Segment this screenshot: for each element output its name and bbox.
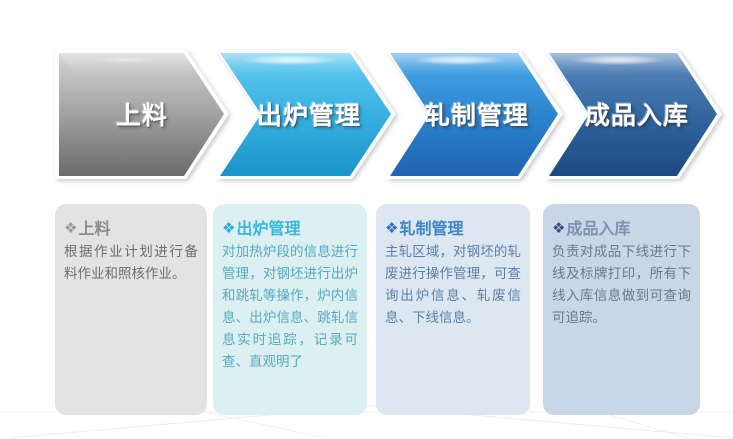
- card-title-1: ❖上料: [64, 218, 198, 239]
- chevron-shapes: [0, 0, 733, 195]
- card-title-3: ❖轧制管理: [385, 218, 521, 239]
- chevron-step-4[interactable]: [545, 50, 722, 179]
- diagram-canvas: 上料 出炉管理 轧制管理 成品入库 ❖上料 根据作业计划进行备料作业和照核作业。…: [0, 0, 733, 439]
- card-body-4: 负责对成品下线进行下线及标牌打印，所有下线入库信息做到可查询可追踪。: [552, 241, 691, 329]
- card-body-2: 对加热炉段的信息进行管理，对钢坯进行出炉和跳轧等操作，炉内信息、出炉信息、跳轧信…: [222, 241, 358, 373]
- card-body-3: 主轧区域，对钢坯的轧废进行操作管理，可查询出炉信息、轧废信息、下线信息。: [385, 241, 521, 329]
- chevron-step-3[interactable]: [386, 50, 563, 179]
- card-title-text-3: 轧制管理: [399, 219, 463, 238]
- description-card-1[interactable]: ❖上料 根据作业计划进行备料作业和照核作业。: [55, 204, 207, 415]
- diamond-bullet-icon: ❖: [64, 219, 77, 237]
- card-title-4: ❖成品入库: [552, 218, 691, 239]
- diamond-bullet-icon: ❖: [385, 219, 398, 237]
- chevron-step-2[interactable]: [216, 50, 396, 179]
- process-chevron-band: 上料 出炉管理 轧制管理 成品入库: [0, 0, 733, 195]
- description-card-3[interactable]: ❖轧制管理 主轧区域，对钢坯的轧废进行操作管理，可查询出炉信息、轧废信息、下线信…: [376, 204, 530, 415]
- card-title-2: ❖出炉管理: [222, 218, 358, 239]
- description-card-4[interactable]: ❖成品入库 负责对成品下线进行下线及标牌打印，所有下线入库信息做到可查询可追踪。: [543, 204, 700, 415]
- chevron-step-1[interactable]: [55, 50, 229, 179]
- diamond-bullet-icon: ❖: [552, 219, 565, 237]
- card-title-text-2: 出炉管理: [236, 219, 300, 238]
- card-body-1: 根据作业计划进行备料作业和照核作业。: [64, 241, 198, 285]
- diamond-bullet-icon: ❖: [222, 219, 235, 237]
- description-card-row: ❖上料 根据作业计划进行备料作业和照核作业。 ❖出炉管理 对加热炉段的信息进行管…: [0, 195, 733, 439]
- card-title-text-1: 上料: [78, 219, 110, 238]
- description-card-2[interactable]: ❖出炉管理 对加热炉段的信息进行管理，对钢坯进行出炉和跳轧等操作，炉内信息、出炉…: [213, 204, 367, 415]
- card-title-text-4: 成品入库: [566, 219, 630, 238]
